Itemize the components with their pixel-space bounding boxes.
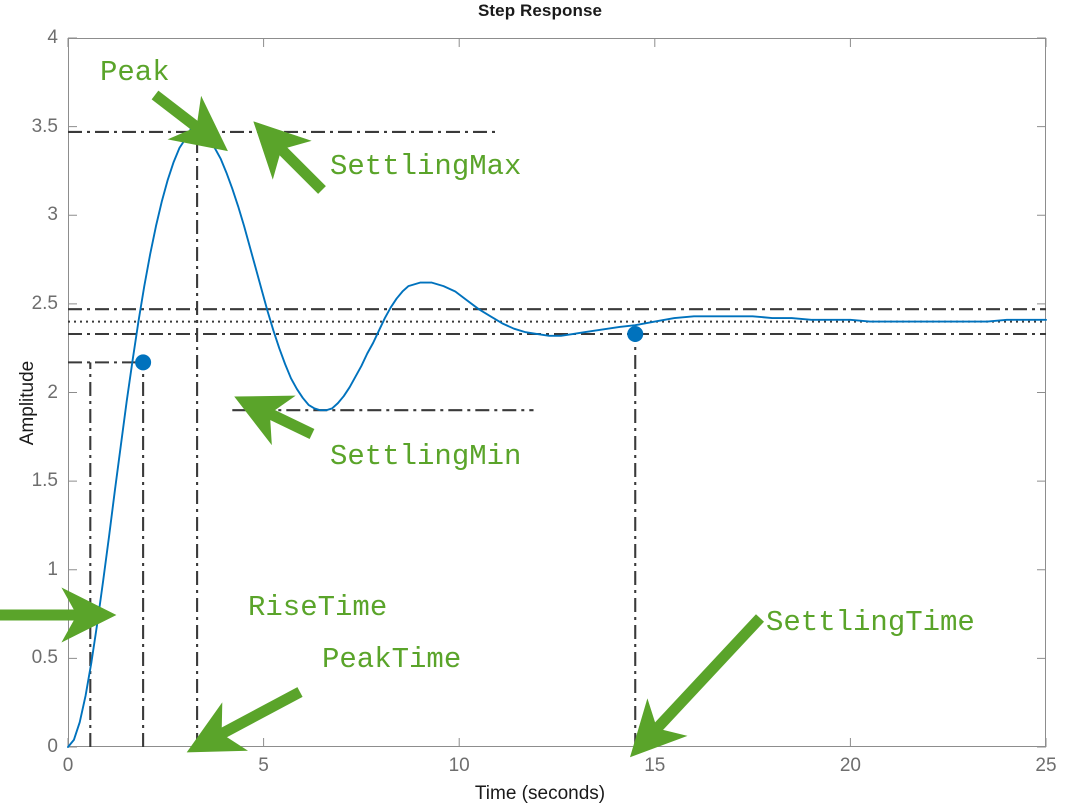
step-response-figure: Step Response 00.511.522.533.54 05101520… [0, 0, 1080, 808]
arrow-settlingmax [272, 140, 322, 190]
annotation-settling-time: SettlingTime [766, 608, 975, 637]
arrow-settlingmin [258, 408, 312, 434]
annotation-peak: Peak [100, 58, 170, 87]
annotation-rise-time: RiseTime [248, 593, 387, 622]
annotation-peak-time: PeakTime [322, 645, 461, 674]
annotation-settling-min: SettlingMin [330, 442, 521, 471]
annotation-settling-max: SettlingMax [330, 152, 521, 181]
callout-arrows [0, 0, 1080, 808]
arrow-peak [155, 95, 207, 135]
arrow-settlingtime [648, 618, 760, 738]
arrow-peaktime [210, 692, 300, 740]
